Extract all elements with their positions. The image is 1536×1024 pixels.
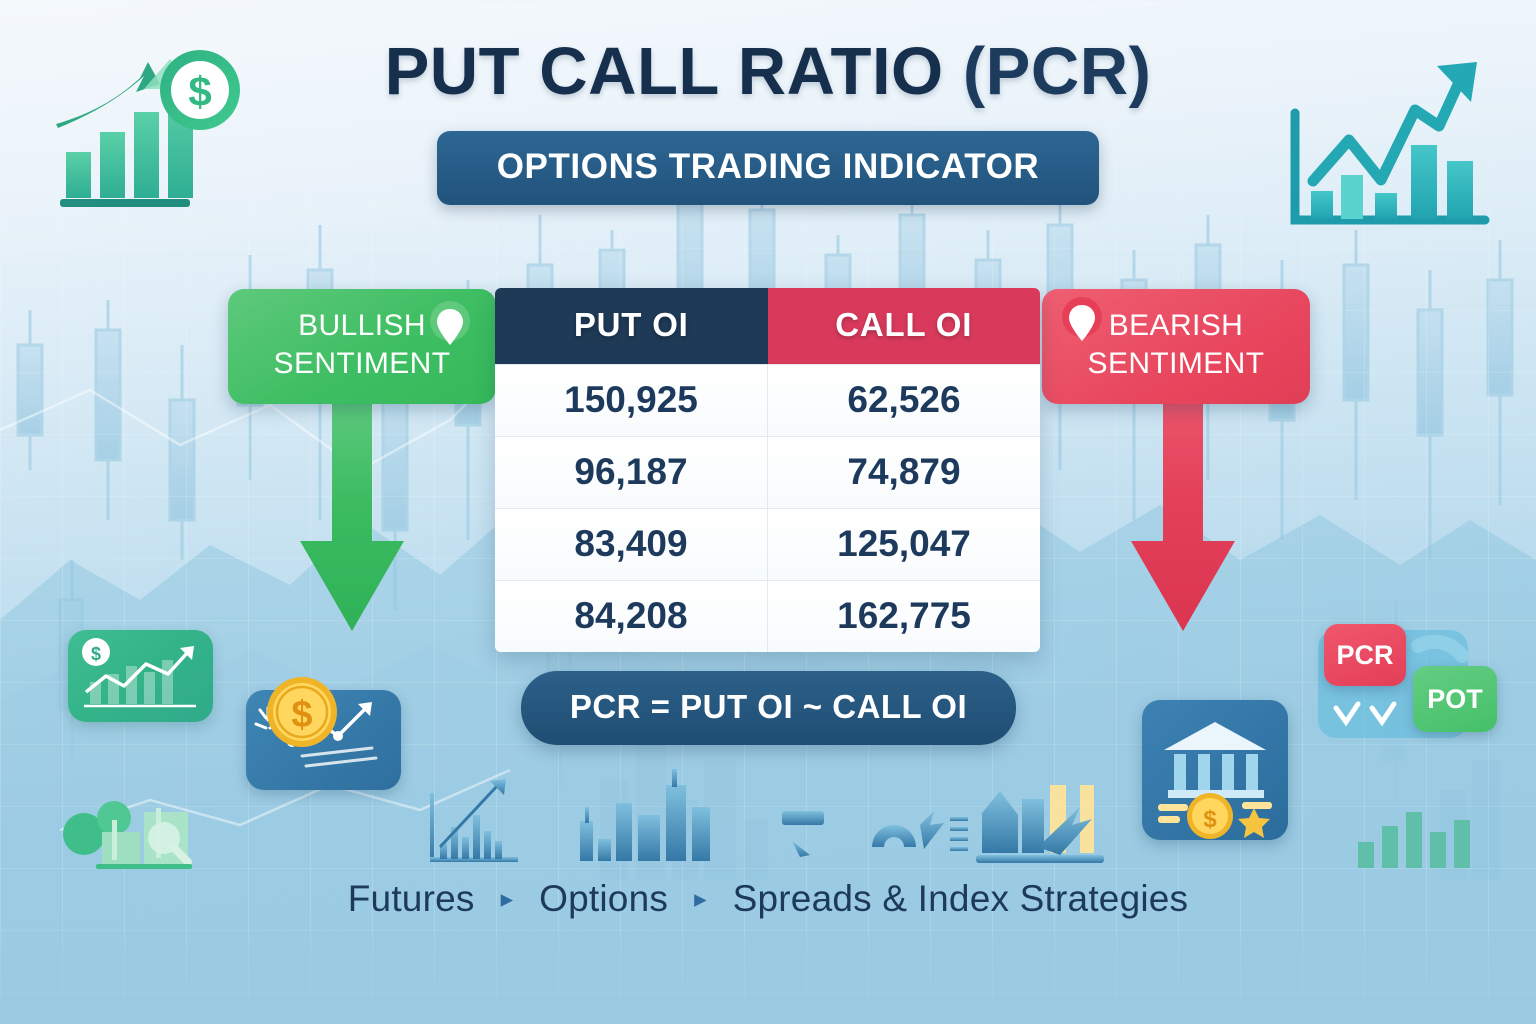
page-subtitle-banner: OPTIONS TRADING INDICATOR bbox=[437, 131, 1100, 205]
page-title-main: PUT CALL RATIO bbox=[385, 34, 944, 109]
cell-call-oi: 125,047 bbox=[768, 509, 1040, 580]
cell-call-oi: 74,879 bbox=[768, 437, 1040, 508]
green-bars-magnifier-icon bbox=[60, 790, 220, 870]
svg-text:$: $ bbox=[91, 644, 101, 664]
green-growth-chart-card: $ bbox=[68, 630, 213, 722]
chevron-right-icon: ▸ bbox=[694, 887, 707, 912]
breadcrumb-item-spreads-index-strategies[interactable]: Spreads & Index Strategies bbox=[733, 878, 1189, 920]
svg-text:$: $ bbox=[1203, 806, 1217, 833]
svg-text:$: $ bbox=[291, 694, 312, 736]
cell-put-oi: 83,409 bbox=[495, 509, 768, 580]
pcr-pot-bubbles-panel: PCR POT bbox=[1318, 620, 1503, 750]
breadcrumb: Futures ▸ Options ▸ Spreads & Index Stra… bbox=[0, 878, 1536, 920]
bubble-pcr[interactable]: PCR bbox=[1324, 624, 1406, 686]
badge-bullish-line1: BULLISH bbox=[298, 309, 426, 342]
page-title-paren: (PCR) bbox=[963, 34, 1152, 109]
cell-call-oi: 62,526 bbox=[768, 365, 1040, 436]
bubble-pot[interactable]: POT bbox=[1413, 666, 1497, 732]
pin-marker-icon bbox=[1060, 297, 1104, 349]
badge-bullish-sentiment[interactable]: BULLISH SENTIMENT bbox=[228, 289, 496, 404]
badge-bearish-line2: SENTIMENT bbox=[1056, 345, 1296, 383]
badge-bearish-line1: BEARISH bbox=[1109, 309, 1244, 342]
table-header-row: PUT OI CALL OI bbox=[495, 288, 1040, 364]
breadcrumb-item-options[interactable]: Options bbox=[539, 878, 668, 920]
cell-call-oi: 162,775 bbox=[768, 581, 1040, 652]
cell-put-oi: 150,925 bbox=[495, 365, 768, 436]
cell-put-oi: 96,187 bbox=[495, 437, 768, 508]
pin-marker-icon bbox=[428, 301, 472, 353]
put-call-oi-table: PUT OI CALL OI 150,925 62,526 96,187 74,… bbox=[495, 288, 1040, 652]
financial-icons-band bbox=[420, 755, 1120, 880]
table-row: 150,925 62,526 bbox=[495, 364, 1040, 436]
chevron-right-icon: ▸ bbox=[501, 887, 514, 912]
teal-bars-icon bbox=[1352, 790, 1487, 870]
gold-coin-icon: $ bbox=[262, 672, 342, 752]
breadcrumb-item-futures[interactable]: Futures bbox=[348, 878, 475, 920]
column-header-put-oi: PUT OI bbox=[495, 288, 768, 364]
column-header-call-oi: CALL OI bbox=[768, 288, 1041, 364]
table-row: 96,187 74,879 bbox=[495, 436, 1040, 508]
page-title: PUT CALL RATIO (PCR) bbox=[0, 38, 1536, 105]
pcr-formula-pill: PCR = PUT OI ~ CALL OI bbox=[521, 671, 1016, 745]
header: PUT CALL RATIO (PCR) OPTIONS TRADING IND… bbox=[0, 38, 1536, 205]
cell-put-oi: 84,208 bbox=[495, 581, 768, 652]
table-row: 84,208 162,775 bbox=[495, 580, 1040, 652]
table-row: 83,409 125,047 bbox=[495, 508, 1040, 580]
bank-savings-card: $ bbox=[1142, 700, 1288, 840]
badge-bearish-sentiment[interactable]: BEARISH SENTIMENT bbox=[1042, 289, 1310, 404]
